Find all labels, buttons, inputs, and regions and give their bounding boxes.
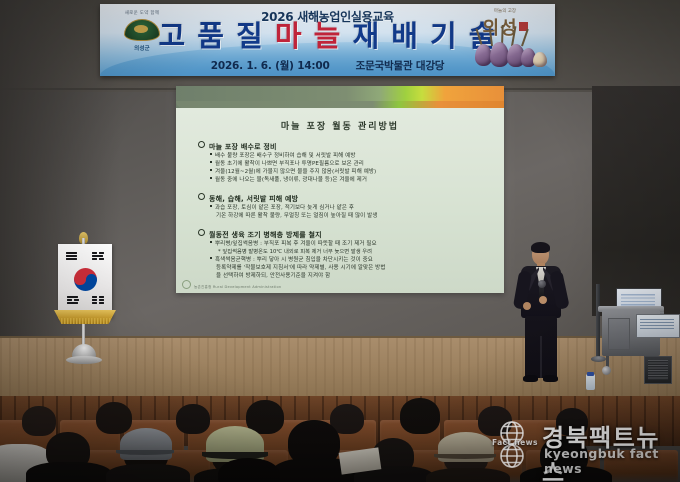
- section-heading: 월동전 생육 조기 병해충 방제를 철지: [198, 229, 504, 240]
- section-bullet: 겨울(12월~2월)에 가물지 않으면 물을 주지 않음(서릿발 피해 예방): [210, 168, 504, 176]
- section-bullet-continued: 등록약제를 '작물보호제 지침서'에 따라 약제별, 사용 시기에 알맞은 방법: [216, 264, 504, 272]
- section-bullet: 월동 중에 나오는 물(독새풀, 냉이류, 광대나물 등)은 겨울에 제거: [210, 176, 504, 184]
- trigram-gon: [99, 296, 104, 298]
- trigram-gam: [67, 299, 72, 301]
- dot-bullet-icon: [210, 153, 212, 155]
- presenter-hand-right: [539, 296, 547, 304]
- bullet-text: 과습 포장, 토심이 얕은 포장, 적기보다 늦게 심거나 얕은 후: [215, 205, 354, 211]
- mic-stand: [596, 284, 600, 358]
- event-banner: 새로운 도약 함께 의성군 2026 새해농업인실용교육 고 품 질 마 늘 재…: [100, 4, 555, 76]
- banner-venue: 조문국박물관 대강당: [356, 60, 445, 72]
- slide-header-band: [176, 86, 504, 108]
- cart-wheel-left: [602, 366, 611, 375]
- slide-section: 마늘 포장 배수로 정비 배수 불량 포장은 배수구 정비하여 습해 및 서릿발…: [198, 141, 504, 184]
- section-bullet: 배수 불량 포장은 배수구 정비하여 습해 및 서릿발 피해 예방: [210, 152, 504, 160]
- dot-bullet-icon: [210, 241, 212, 243]
- water-bottle: [586, 374, 595, 390]
- slide-footer-text: 농촌진흥청 Rural Development Administration: [194, 285, 281, 289]
- brand-small-text: 마늘의 고장: [457, 8, 553, 14]
- section-bullet-continued: 기온 하강에 따른 활착 불량, 무멀칭 또는 얼짐이 높아질 때 많이 발생: [216, 212, 504, 220]
- section-bullet: 뿌리병/잎집썩음병 : 부직포 피복 후 겨울이 따뜻할 때 조기 제거 필요: [210, 240, 504, 248]
- presenter-shoe-left: [523, 375, 538, 382]
- section-subbullet: * 잎집썩음병 발병온도 10℃ 내외로 피복 제거 너무 늦으면 발생 우려: [218, 248, 504, 256]
- bullet-text: 겨울(12월~2월)에 가물지 않으면 물을 주지 않음(서릿발 피해 예방): [215, 169, 376, 175]
- subbullet-text: 잎집썩음병 발병온도 10℃ 내외로 피복 제거 너무 늦으면 발생 우려: [222, 249, 372, 255]
- trigram-ri: [92, 258, 97, 260]
- poster-lines: [640, 319, 674, 331]
- presenter: [512, 244, 570, 390]
- banner-title-part-2: 마 늘: [275, 19, 353, 53]
- watermark-english-text: kyeongbuk fact news: [544, 446, 672, 476]
- presenter-shoe-right: [543, 375, 558, 382]
- slide-section: 월동전 생육 조기 병해충 방제를 철지 뿌리병/잎집썩음병 : 부직포 피복 …: [198, 229, 504, 280]
- slide-footer: 농촌진흥청 Rural Development Administration: [182, 280, 281, 290]
- garlic-clove: [533, 52, 547, 67]
- dot-bullet-icon: [210, 257, 212, 259]
- rda-logo-icon: [182, 280, 191, 289]
- trigram-ri: [99, 252, 104, 254]
- trigram-ri: [92, 255, 103, 257]
- projection-screen: 마늘 포장 월동 관리방법 마늘 포장 배수로 정비 배수 불량 포장은 배수구…: [176, 86, 504, 293]
- watermark: Fact news 경북팩트뉴스 kyeongbuk fact news: [486, 416, 672, 472]
- dot-bullet-icon: [210, 205, 212, 207]
- trigram-gam: [67, 296, 78, 298]
- section-heading: 마늘 포장 배수로 정비: [198, 141, 504, 152]
- trigram-gon: [99, 302, 104, 304]
- garlic-bulb: [490, 42, 509, 67]
- water-bottle-cap: [587, 372, 594, 376]
- banner-date: 2026. 1. 6. (월) 14:00: [211, 60, 330, 72]
- trigram-gam: [74, 299, 79, 301]
- mic-stand-base: [591, 356, 606, 362]
- watermark-badge-text: Fact news: [492, 438, 538, 447]
- trigram-gon: [99, 299, 104, 301]
- bullet-text: 월동 중에 나오는 물(독새풀, 냉이류, 광대나물 등)은 겨울에 제거: [215, 177, 367, 183]
- pa-speaker: [644, 356, 672, 384]
- bullet-text: 흑색썩음균핵병 : 뿌리 닿아 시 병원균 침입을 차단시키는 것이 중요: [215, 257, 373, 263]
- slide-title: 마늘 포장 월동 관리방법: [176, 119, 504, 132]
- section-heading: 동해, 습해, 서릿발 피해 예방: [198, 193, 504, 204]
- national-flag: [48, 238, 122, 388]
- bullet-text: 월동 초기에 활착이 나쁘면 부직포나 투명PE필름으로 보온 관리: [215, 161, 364, 167]
- wall-poster: [636, 314, 680, 338]
- presenter-hand-left: [523, 302, 531, 310]
- garlic-brand-graphic: 마늘의 고장 의성: [457, 6, 553, 74]
- bullet-text: 뿌리병/잎집썩음병 : 부직포 피복 후 겨울이 따뜻할 때 조기 제거 필요: [215, 241, 377, 247]
- right-dark-alcove: [592, 86, 680, 316]
- dot-bullet-icon: [210, 169, 212, 171]
- circle-bullet-icon: [198, 193, 205, 200]
- slide-section: 동해, 습해, 서릿발 피해 예방 과습 포장, 토심이 얕은 포장, 적기보다…: [198, 193, 504, 220]
- trouser-seam: [540, 336, 542, 378]
- banner-title-part-1: 고 품 질: [159, 19, 275, 53]
- trigram-geon: [66, 255, 77, 257]
- flag-fringe: [54, 310, 116, 324]
- circle-bullet-icon: [198, 141, 205, 148]
- bullet-text: 배수 불량 포장은 배수구 정비하여 습해 및 서릿발 피해 예방: [215, 153, 355, 159]
- circle-bullet-icon: [198, 229, 205, 236]
- trigram-gam: [67, 302, 78, 304]
- section-bullet: 과습 포장, 토심이 얕은 포장, 적기보다 늦게 심거나 얕은 후: [210, 204, 504, 212]
- brand-label: 마늘의 고장 의성: [457, 8, 553, 40]
- trigram-ri: [92, 252, 97, 254]
- trigram-geon: [66, 258, 77, 260]
- flag-cloth: [58, 244, 112, 318]
- trigram-geon: [66, 252, 77, 254]
- trigram-gon: [92, 296, 97, 298]
- trigram-gon: [92, 299, 97, 301]
- taegeuk-icon: [74, 268, 97, 291]
- dot-bullet-icon: [210, 177, 212, 179]
- cart-panel: [608, 318, 630, 350]
- section-bullet-continued: 을 선택하여 방제하되, 안전사용기준을 지켜야 함: [216, 272, 504, 280]
- section-heading-text: 마늘 포장 배수로 정비: [209, 143, 277, 151]
- section-bullet: 월동 초기에 활착이 나쁘면 부직포나 투명PE필름으로 보온 관리: [210, 160, 504, 168]
- trigram-ri: [99, 258, 104, 260]
- flag-base: [66, 356, 102, 364]
- dot-bullet-icon: [210, 161, 212, 163]
- slide-body: 마늘 포장 월동 관리방법 마늘 포장 배수로 정비 배수 불량 포장은 배수구…: [176, 108, 504, 293]
- photo-scene: 새로운 도약 함께 의성군 2026 새해농업인실용교육 고 품 질 마 늘 재…: [0, 0, 680, 482]
- speaker-grill: [648, 360, 668, 380]
- trigram-gon: [92, 302, 97, 304]
- section-heading-text: 동해, 습해, 서릿발 피해 예방: [209, 195, 298, 203]
- section-bullet: 흑색썩음균핵병 : 뿌리 닿아 시 병원균 침입을 차단시키는 것이 중요: [210, 256, 504, 264]
- section-heading-text: 월동전 생육 조기 병해충 방제를 철지: [209, 231, 322, 239]
- presenter-hair: [531, 242, 550, 253]
